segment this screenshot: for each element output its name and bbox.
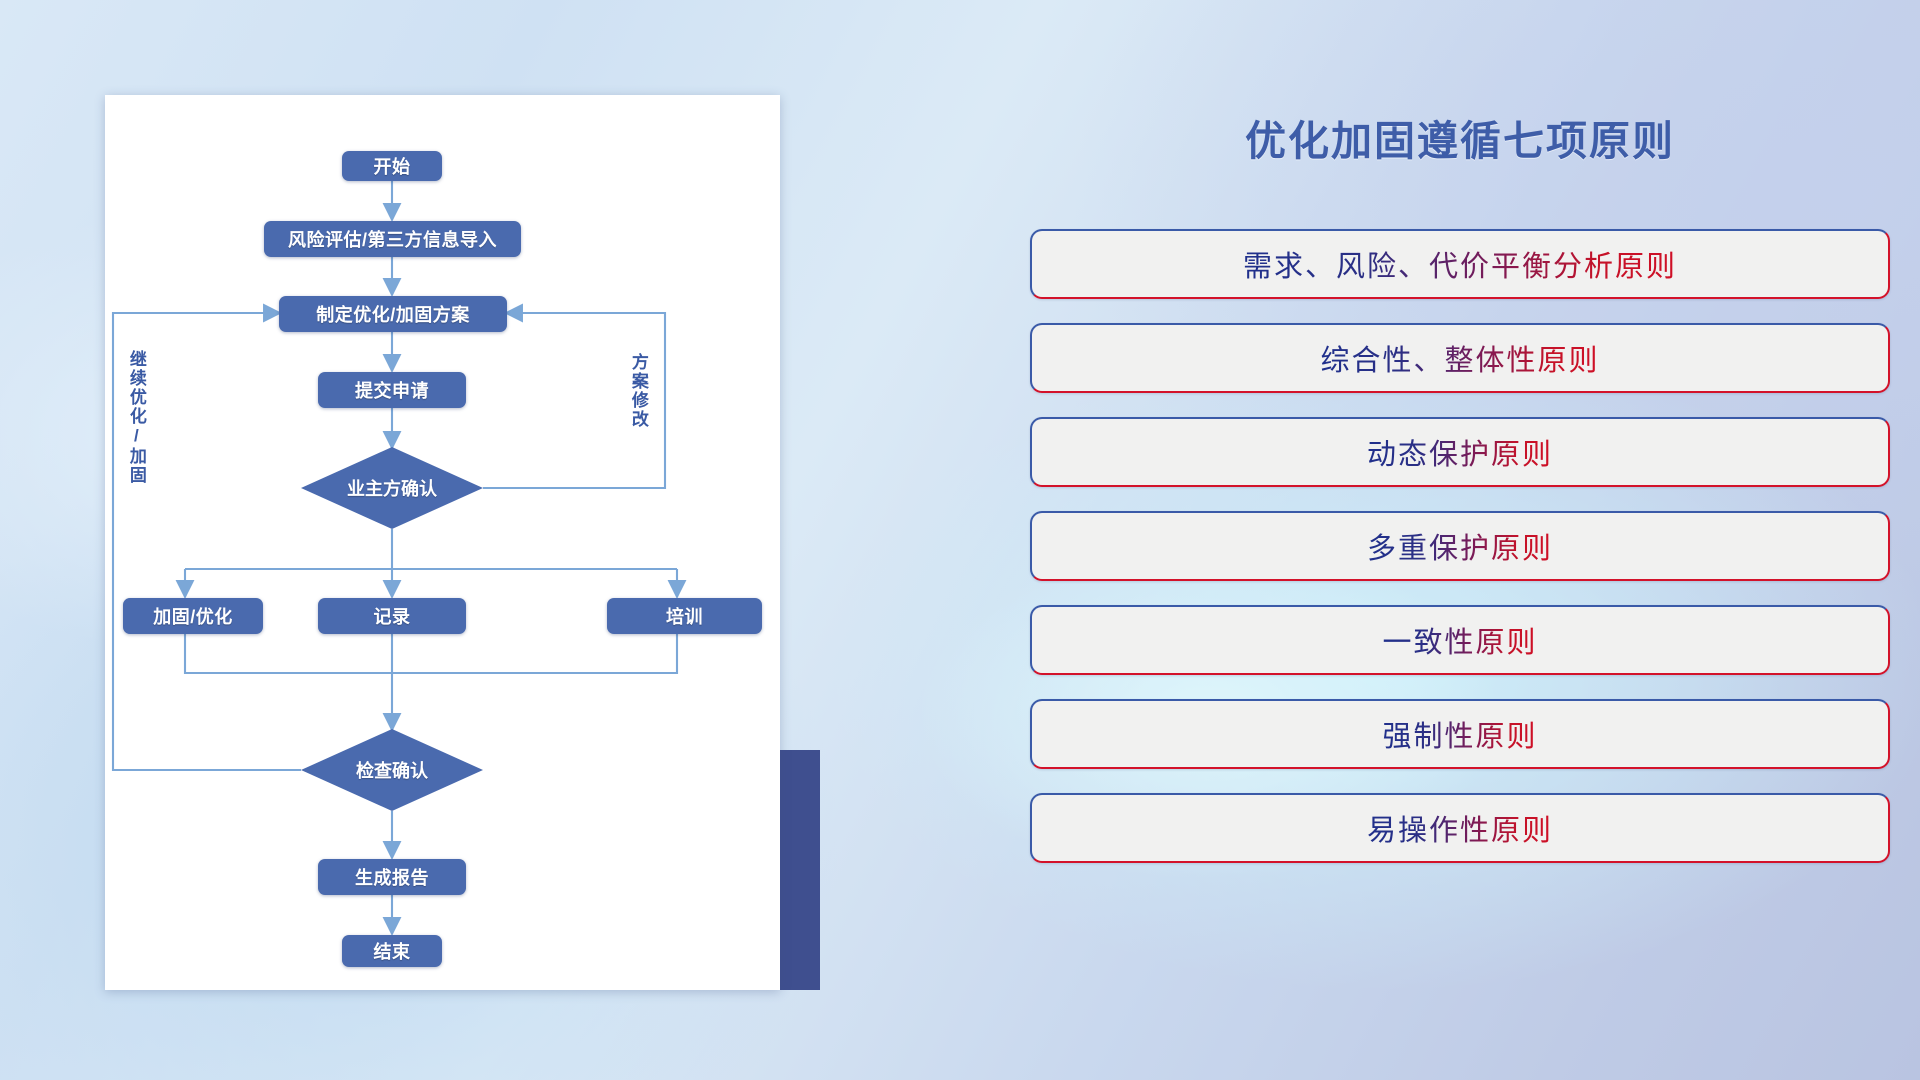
flow-edge-label-plan-revision: 方案修改 xyxy=(629,353,647,429)
flow-node-generate-report[interactable]: 生成报告 xyxy=(318,859,466,895)
flow-node-risk-assessment[interactable]: 风险评估/第三方信息导入 xyxy=(264,221,521,257)
principle-card-3-label: 动态保护原则 xyxy=(1367,431,1553,473)
flow-node-record[interactable]: 记录 xyxy=(318,598,466,634)
principle-card-2-label: 综合性、整体性原则 xyxy=(1320,337,1599,379)
principles-panel: 优化加固遵循七项原则 需求、风险、代价平衡分析原则 综合性、整体性原则 动态保护… xyxy=(1030,95,1890,1015)
flow-node-end-label: 结束 xyxy=(374,938,411,964)
principle-card-3[interactable]: 动态保护原则 xyxy=(1030,417,1890,487)
flow-node-end[interactable]: 结束 xyxy=(342,935,442,967)
principle-card-2[interactable]: 综合性、整体性原则 xyxy=(1030,323,1890,393)
flow-node-reinforce-optimize-label: 加固/优化 xyxy=(153,603,233,629)
principle-card-6-label: 强制性原则 xyxy=(1382,713,1537,755)
principle-card-1[interactable]: 需求、风险、代价平衡分析原则 xyxy=(1030,229,1890,299)
principle-card-1-label: 需求、风险、代价平衡分析原则 xyxy=(1243,243,1677,285)
flow-node-submit-application-label: 提交申请 xyxy=(355,377,429,403)
flow-node-generate-report-label: 生成报告 xyxy=(355,864,429,890)
flow-node-inspection-confirm-label: 检查确认 xyxy=(356,757,428,783)
principle-card-7[interactable]: 易操作性原则 xyxy=(1030,793,1890,863)
principle-card-7-label: 易操作性原则 xyxy=(1367,807,1553,849)
principle-card-6[interactable]: 强制性原则 xyxy=(1030,699,1890,769)
flow-node-training[interactable]: 培训 xyxy=(607,598,762,634)
panel-title: 优化加固遵循七项原则 xyxy=(1030,107,1890,167)
flow-node-reinforce-optimize[interactable]: 加固/优化 xyxy=(123,598,263,634)
flow-node-submit-application[interactable]: 提交申请 xyxy=(318,372,466,408)
flow-node-record-label: 记录 xyxy=(374,603,411,629)
flowchart-canvas: 开始 风险评估/第三方信息导入 制定优化/加固方案 提交申请 业主方确认 加固/… xyxy=(105,95,780,990)
flow-edge-label-continue-optimize: 继续优化/加固 xyxy=(127,350,145,485)
principle-card-5[interactable]: 一致性原则 xyxy=(1030,605,1890,675)
principle-card-4-label: 多重保护原则 xyxy=(1367,525,1553,567)
flow-node-make-plan[interactable]: 制定优化/加固方案 xyxy=(279,296,507,332)
flow-node-start[interactable]: 开始 xyxy=(342,151,442,181)
flow-node-risk-assessment-label: 风险评估/第三方信息导入 xyxy=(288,226,497,252)
principle-card-5-label: 一致性原则 xyxy=(1382,619,1537,661)
flow-node-make-plan-label: 制定优化/加固方案 xyxy=(316,301,470,327)
flow-node-start-label: 开始 xyxy=(374,153,411,179)
flow-node-owner-confirm-label: 业主方确认 xyxy=(347,475,437,501)
flow-node-training-label: 培训 xyxy=(666,603,703,629)
flowchart-card: 开始 风险评估/第三方信息导入 制定优化/加固方案 提交申请 业主方确认 加固/… xyxy=(105,95,780,990)
principles-list: 需求、风险、代价平衡分析原则 综合性、整体性原则 动态保护原则 多重保护原则 一… xyxy=(1030,229,1890,863)
principle-card-4[interactable]: 多重保护原则 xyxy=(1030,511,1890,581)
